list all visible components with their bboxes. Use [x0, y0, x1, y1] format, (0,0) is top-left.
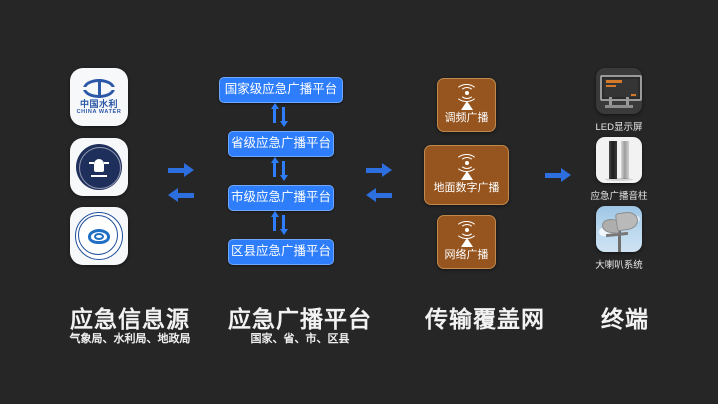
terminal-card-horn-speaker[interactable]: [596, 206, 642, 252]
terminal-label-horn-speaker: 大喇叭系统: [579, 257, 659, 271]
source-logo-china-water[interactable]: 中国水利 CHINA WATER: [70, 68, 128, 126]
transmission-box-internet-radio[interactable]: 网络广播: [437, 215, 496, 269]
transmission-box-terrestrial-digital[interactable]: 地面数字广播: [424, 145, 509, 205]
transmission-label-internet-radio: 网络广播: [445, 249, 489, 262]
platform-link-arrow-1: [271, 104, 287, 126]
arrow-platforms-to-transmission: [366, 163, 392, 177]
terminal-label-led-screen: LED显示屏: [579, 119, 659, 133]
china-water-en-label: CHINA WATER: [77, 109, 122, 116]
arrow-platforms-to-sources: [168, 188, 194, 202]
transmission-label-fm-radio: 调频广播: [445, 112, 489, 125]
terminal-card-speaker-column[interactable]: [596, 137, 642, 183]
platform-box-provincial[interactable]: 省级应急广播平台: [228, 131, 334, 157]
cea-seal-icon: [76, 144, 122, 190]
platform-box-district[interactable]: 区县应急广播平台: [228, 239, 334, 265]
china-water-emblem-icon: [83, 79, 115, 98]
caption-title-platforms: 应急广播平台: [200, 300, 400, 334]
cma-logo-inner: [70, 207, 128, 265]
caption-subtitle-platforms: 国家、省、市、区县: [200, 330, 400, 346]
broadcast-tower-icon: [452, 156, 482, 180]
arrow-sources-to-platforms: [168, 163, 194, 177]
terminal-label-speaker-column: 应急广播音柱: [579, 188, 659, 202]
platform-box-national[interactable]: 国家级应急广播平台: [219, 77, 343, 103]
china-water-logo-inner: 中国水利 CHINA WATER: [70, 68, 128, 126]
broadcast-tower-icon: [452, 86, 482, 110]
led-screen-icon: [596, 68, 642, 114]
china-water-cn-label: 中国水利: [80, 99, 118, 109]
speaker-column-icon: [596, 137, 642, 183]
caption-title-terminals: 终端: [570, 300, 680, 334]
source-logo-china-meteorological-administration[interactable]: [70, 207, 128, 265]
transmission-box-fm-radio[interactable]: 调频广播: [437, 78, 496, 132]
broadcast-tower-icon: [452, 223, 482, 247]
transmission-label-terrestrial-digital: 地面数字广播: [434, 182, 500, 195]
emergency-broadcast-diagram: 中国水利 CHINA WATER 国家级应急广播平台 省级应急广播平台: [0, 0, 718, 404]
platform-link-arrow-2: [271, 158, 287, 180]
cea-logo-inner: [70, 138, 128, 196]
arrow-transmission-to-platforms: [366, 188, 392, 202]
cma-seal-icon: [75, 212, 123, 260]
source-logo-china-earthquake-administration[interactable]: [70, 138, 128, 196]
terminal-card-led-screen[interactable]: [596, 68, 642, 114]
arrow-transmission-to-terminals: [545, 168, 571, 182]
platform-link-arrow-3: [271, 212, 287, 234]
caption-title-transmission: 传输覆盖网: [395, 300, 575, 334]
horn-speaker-icon: [596, 206, 642, 252]
platform-box-municipal[interactable]: 市级应急广播平台: [228, 185, 334, 211]
